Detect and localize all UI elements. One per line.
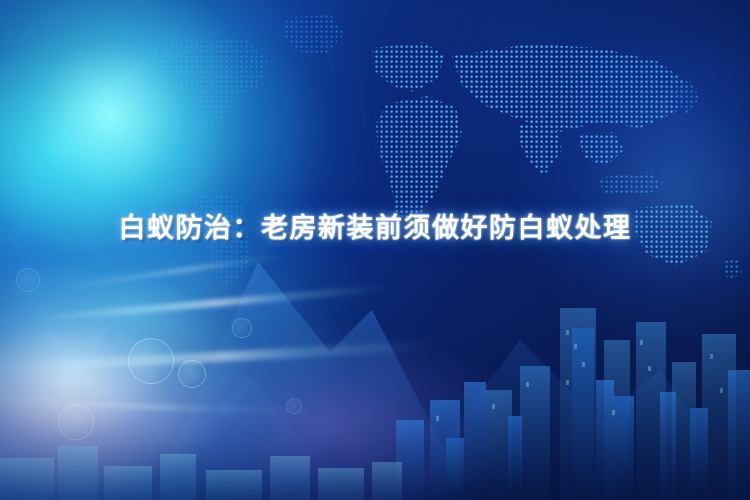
page-title-text: 白蚁防治：老房新装前须做好防白蚁处理 — [90, 210, 660, 247]
page-title: 白蚁防治：老房新装前须做好防白蚁处理 — [0, 210, 750, 247]
vignette-overlay — [0, 0, 750, 500]
termite-control-banner: 白蚁防治：老房新装前须做好防白蚁处理 — [0, 0, 750, 500]
